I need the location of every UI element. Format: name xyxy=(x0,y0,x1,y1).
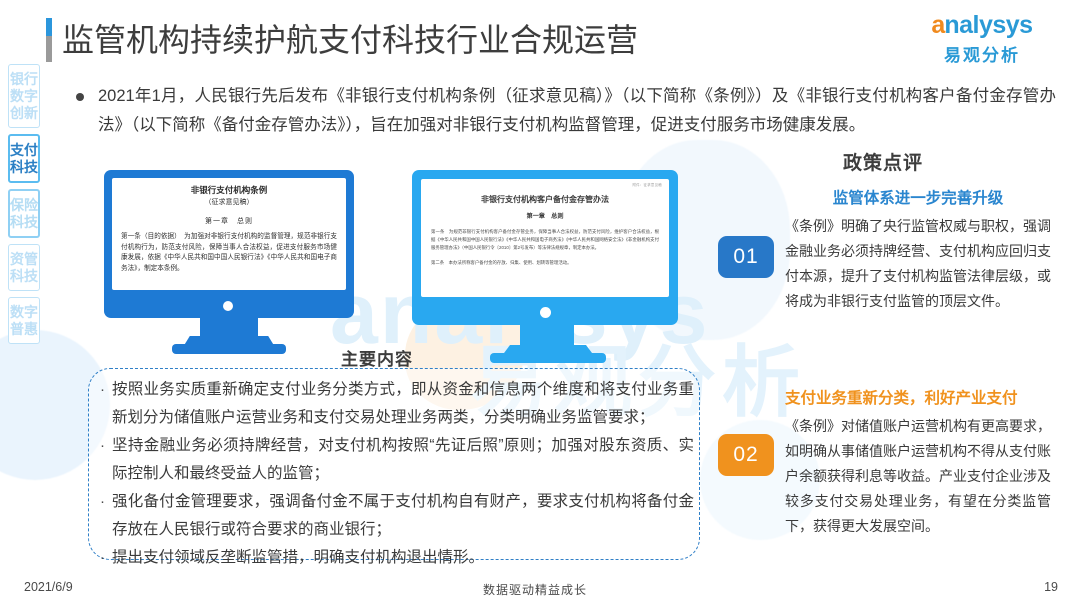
sidebar-item-label: 资管科技 xyxy=(9,251,39,285)
list-item: · 强化备付金管理要求，强调备付金不属于支付机构自有财产，要求支付机构将备付金存… xyxy=(100,488,694,544)
list-bullet-icon: · xyxy=(100,544,112,572)
doc-left-subtitle: （征求意见稿） xyxy=(121,197,337,209)
policy-block-02-heading: 支付业务重新分类，利好产业支付 xyxy=(785,386,1051,412)
logo-chinese-name: 易观分析 xyxy=(912,41,1052,66)
monitor-right-foot xyxy=(490,353,606,363)
monitor-right-power-dot xyxy=(540,307,551,318)
list-item-text: 按照业务实质重新确定支付业务分类方式，即从资金和信息两个维度和将支付业务重新划分… xyxy=(112,376,694,432)
monitor-left-document: 非银行支付机构条例 （征求意见稿） 第一章 总则 第一条（目的依据） 为加强对非… xyxy=(112,178,346,290)
sidebar-item-bank-digital-innovation[interactable]: 银行数字创新 xyxy=(8,64,40,128)
main-content-label: 主要内容 xyxy=(341,345,413,370)
doc-left-body: 第一条（目的依据） 为加强对非银行支付机构的监督管理，规范非银行支付机构行为，防… xyxy=(121,232,337,274)
list-bullet-icon: · xyxy=(100,432,112,488)
doc-right-chapter: 第一章 总则 xyxy=(431,211,659,223)
doc-right-stamp: 附件：征求意见稿 xyxy=(632,182,662,187)
sidebar-nav: 银行数字创新 支付科技 保险科技 资管科技 数字普惠 xyxy=(8,64,44,350)
doc-right-body: 第一条 为规范非银行支付机构客户备付金存管业务，保障当事人合法权益，防范支付风险… xyxy=(431,228,659,252)
footer-page-number: 19 xyxy=(1044,580,1058,594)
policy-block-01-body: 《条例》明确了央行监管权威与职权，强调金融业务必须持牌经营、支付机构应回归支付本… xyxy=(785,214,1051,314)
logo-mark-a: a xyxy=(931,13,944,38)
policy-section-title: 政策点评 xyxy=(843,148,923,175)
list-item: · 按照业务实质重新确定支付业务分类方式，即从资金和信息两个维度和将支付业务重新… xyxy=(100,376,694,432)
monitor-left: 非银行支付机构条例 （征求意见稿） 第一章 总则 第一条（目的依据） 为加强对非… xyxy=(104,170,354,318)
intro-paragraph: 2021年1月，人民银行先后发布《非银行支付机构条例（征求意见稿）》（以下简称《… xyxy=(98,82,1056,140)
logo-wordmark: nalysys xyxy=(944,13,1032,38)
slide-root: analysys 易观分析 监管机构持续护航支付科技行业合规运营 analysy… xyxy=(0,0,1080,608)
doc-right-title: 非银行支付机构客户备付金存管办法 xyxy=(431,193,659,206)
list-bullet-icon: · xyxy=(100,376,112,432)
main-content-list: · 按照业务实质重新确定支付业务分类方式，即从资金和信息两个维度和将支付业务重新… xyxy=(100,376,694,572)
list-item: · 坚持金融业务必须持牌经营，对支付机构按照“先证后照”原则；加强对股东资质、实… xyxy=(100,432,694,488)
monitor-right-document: 附件：征求意见稿 非银行支付机构客户备付金存管办法 第一章 总则 第一条 为规范… xyxy=(421,179,669,297)
policy-block-01: 监管体系进一步完善升级 《条例》明确了央行监管权威与职权，强调金融业务必须持牌经… xyxy=(785,186,1051,314)
doc-left-title: 非银行支付机构条例 xyxy=(121,184,337,196)
analysys-logo: analysys 易观分析 xyxy=(912,12,1052,66)
policy-badge-02: 02 xyxy=(718,434,774,476)
sidebar-item-insurance-tech[interactable]: 保险科技 xyxy=(8,189,40,238)
sidebar-item-label: 支付科技 xyxy=(10,142,38,176)
sidebar-item-asset-management-tech[interactable]: 资管科技 xyxy=(8,244,40,291)
sidebar-item-digital-inclusive-finance[interactable]: 数字普惠 xyxy=(8,297,40,344)
sidebar-item-label: 银行数字创新 xyxy=(9,71,39,122)
sidebar-item-label: 保险科技 xyxy=(10,197,38,231)
monitor-left-screen: 非银行支付机构条例 （征求意见稿） 第一章 总则 第一条（目的依据） 为加强对非… xyxy=(104,170,354,318)
list-item-text: 提出支付领域反垄断监管措，明确支付机构退出情形。 xyxy=(112,544,694,572)
footer-date: 2021/6/9 xyxy=(24,580,73,594)
sidebar-item-payment-tech[interactable]: 支付科技 xyxy=(8,134,40,183)
list-item-text: 强化备付金管理要求，强调备付金不属于支付机构自有财产，要求支付机构将备付金存放在… xyxy=(112,488,694,544)
doc-right-body-2: 第二条 本办法所称客户备付金的存放、归集、使用、划转等管理活动。 xyxy=(431,259,659,267)
policy-badge-01: 01 xyxy=(718,236,774,278)
policy-block-02-body: 《条例》对储值账户运营机构有更高要求，如明确从事储值账户运营机构不得从支付账户余… xyxy=(785,414,1051,539)
title-accent-bar xyxy=(46,18,52,62)
list-bullet-icon: · xyxy=(100,488,112,544)
monitor-right: 附件：征求意见稿 非银行支付机构客户备付金存管办法 第一章 总则 第一条 为规范… xyxy=(412,170,678,325)
monitor-right-screen: 附件：征求意见稿 非银行支付机构客户备付金存管办法 第一章 总则 第一条 为规范… xyxy=(412,170,678,325)
monitor-left-power-dot xyxy=(223,301,233,311)
list-item: · 提出支付领域反垄断监管措，明确支付机构退出情形。 xyxy=(100,544,694,572)
page-title: 监管机构持续护航支付科技行业合规运营 xyxy=(62,18,638,62)
sidebar-item-label: 数字普惠 xyxy=(9,304,39,338)
policy-block-01-heading: 监管体系进一步完善升级 xyxy=(785,186,1051,212)
list-item-text: 坚持金融业务必须持牌经营，对支付机构按照“先证后照”原则；加强对股东资质、实际控… xyxy=(112,432,694,488)
footer-slogan: 数据驱动精益成长 xyxy=(483,581,587,598)
monitor-left-foot xyxy=(172,344,286,354)
bullet-point-icon xyxy=(76,93,84,101)
policy-block-02: 支付业务重新分类，利好产业支付 《条例》对储值账户运营机构有更高要求，如明确从事… xyxy=(785,386,1051,539)
doc-left-chapter: 第一章 总则 xyxy=(121,216,337,228)
